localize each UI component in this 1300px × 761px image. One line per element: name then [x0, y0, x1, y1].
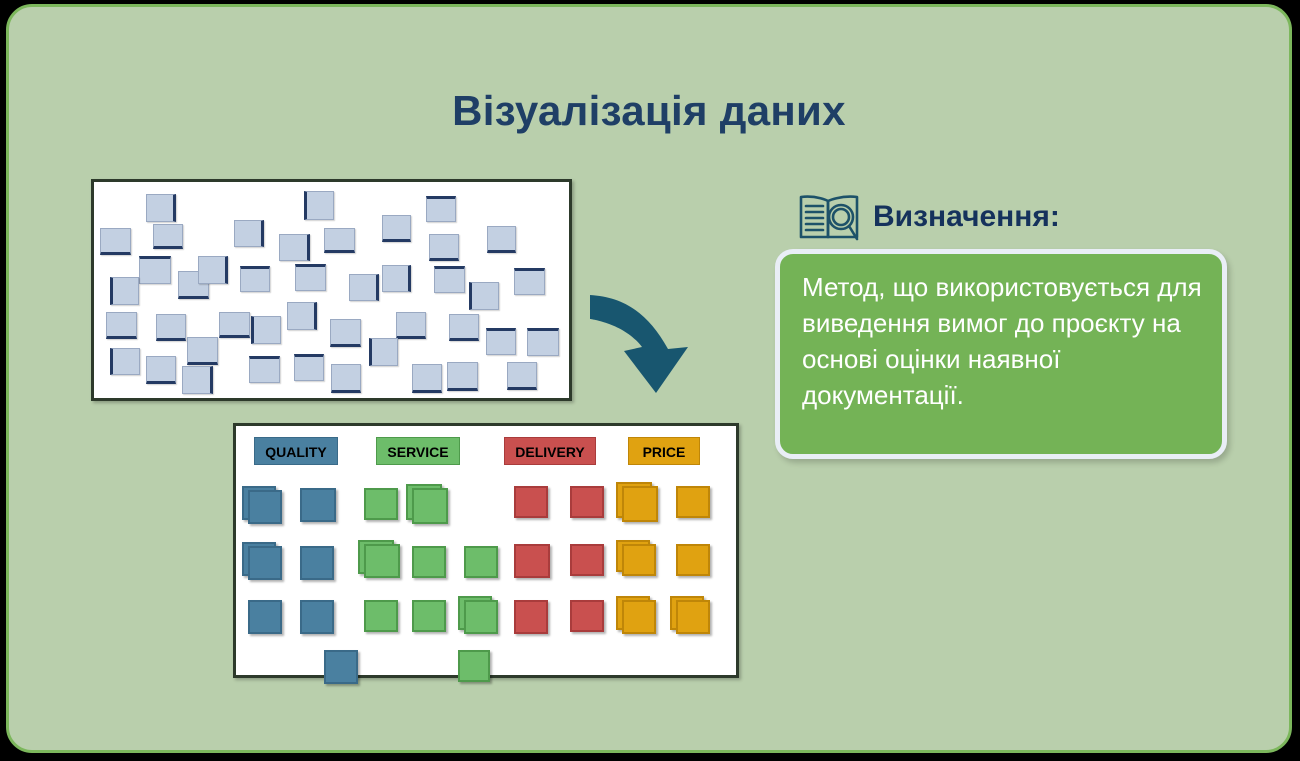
unsorted-note — [219, 312, 250, 338]
sorted-note — [622, 486, 658, 522]
unsorted-note — [295, 264, 326, 291]
unsorted-note — [382, 265, 411, 292]
sorted-note — [412, 546, 446, 578]
sorted-note — [570, 600, 604, 632]
sorted-note — [622, 544, 656, 576]
sorted-note — [364, 488, 398, 520]
unsorted-note — [304, 191, 334, 220]
sorted-note — [570, 544, 604, 576]
category-label-service[interactable]: SERVICE — [376, 437, 460, 465]
unsorted-note — [234, 220, 264, 247]
unsorted-note — [527, 328, 559, 356]
unsorted-note — [324, 228, 355, 253]
unsorted-note — [294, 354, 324, 381]
unsorted-note — [447, 362, 478, 391]
definition-body-text: Метод, що використовується для виведення… — [802, 270, 1206, 414]
unsorted-note — [187, 337, 218, 365]
unsorted-note — [330, 319, 361, 347]
sorted-note — [622, 600, 656, 634]
sorted-note — [412, 488, 448, 524]
unsorted-note — [153, 224, 183, 249]
unsorted-note — [156, 314, 186, 341]
unsorted-note — [182, 366, 213, 394]
sorted-note — [676, 544, 710, 576]
unsorted-note — [287, 302, 317, 330]
sorted-note — [364, 544, 400, 578]
sorted-note — [412, 600, 446, 632]
unsorted-note — [382, 215, 411, 242]
unsorted-note — [426, 196, 456, 222]
sorted-note — [514, 486, 548, 518]
definition-box: Метод, що використовується для виведення… — [775, 249, 1227, 459]
unsorted-note — [100, 228, 131, 255]
unsorted-note — [514, 268, 545, 295]
slide-panel: Візуалізація даних QUALITYSERVICEDELIVER… — [6, 4, 1292, 753]
unsorted-note — [251, 316, 281, 344]
unsorted-note — [486, 328, 516, 355]
sorted-note — [464, 600, 498, 634]
sorted-note — [676, 486, 710, 518]
definition-heading-label: Визначення: — [873, 200, 1060, 234]
sorted-note — [464, 546, 498, 578]
sorted-note — [248, 490, 282, 524]
sorted-note — [300, 546, 334, 580]
sorted-note — [676, 600, 710, 634]
sorted-note — [248, 546, 282, 580]
sorted-notes-panel: QUALITYSERVICEDELIVERYPRICE — [233, 423, 739, 678]
sorted-note — [458, 650, 490, 682]
definition-heading-group: Визначення: — [797, 189, 1060, 245]
sorted-note — [324, 650, 358, 684]
book-magnifier-icon — [797, 189, 861, 245]
unsorted-note — [487, 226, 516, 253]
unsorted-note — [198, 256, 228, 284]
sorted-note — [300, 600, 334, 634]
unsorted-note — [349, 274, 379, 301]
unsorted-note — [469, 282, 499, 310]
unsorted-note — [507, 362, 537, 390]
unsorted-note — [249, 356, 280, 383]
unsorted-note — [429, 234, 459, 261]
unsorted-note — [331, 364, 361, 393]
category-label-delivery[interactable]: DELIVERY — [504, 437, 596, 465]
slide-root: Візуалізація даних QUALITYSERVICEDELIVER… — [0, 0, 1300, 761]
unsorted-note — [106, 312, 137, 339]
unsorted-note — [110, 348, 140, 375]
unsorted-note — [146, 356, 176, 384]
unsorted-note — [139, 256, 171, 284]
page-title: Візуалізація даних — [9, 87, 1289, 135]
sorted-note — [514, 544, 550, 578]
category-label-quality[interactable]: QUALITY — [254, 437, 338, 465]
unsorted-note — [396, 312, 426, 339]
unsorted-note — [110, 277, 139, 305]
unsorted-note — [279, 234, 310, 261]
category-label-price[interactable]: PRICE — [628, 437, 700, 465]
sorted-note — [514, 600, 548, 634]
unsorted-note — [449, 314, 479, 341]
unsorted-note — [240, 266, 270, 292]
sorted-note — [248, 600, 282, 634]
unsorted-note — [369, 338, 398, 366]
unsorted-notes-panel — [91, 179, 572, 401]
sorted-note — [300, 488, 336, 522]
curved-flow-arrow — [584, 289, 704, 399]
sorted-note — [364, 600, 398, 632]
unsorted-note — [412, 364, 442, 393]
sorted-note — [570, 486, 604, 518]
unsorted-note — [146, 194, 176, 222]
unsorted-note — [434, 266, 465, 293]
